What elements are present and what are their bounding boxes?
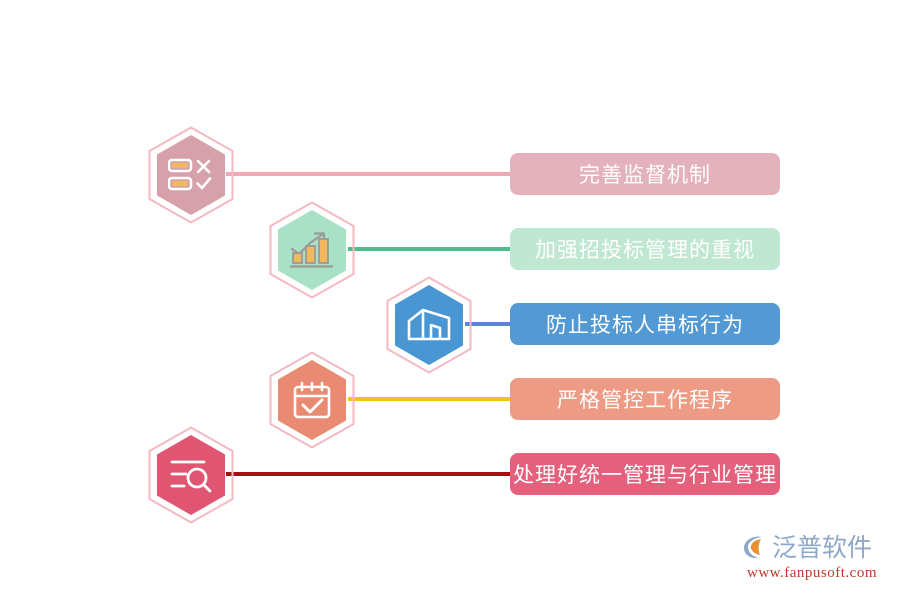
hex-badge-5[interactable] (148, 426, 234, 524)
label-pill-2[interactable]: 加强招投标管理的重视 (510, 228, 780, 270)
hex-badge-2[interactable] (269, 201, 355, 299)
label-text-2: 加强招投标管理的重视 (535, 234, 755, 264)
label-text-3: 防止投标人串标行为 (546, 309, 744, 339)
building-warehouse-icon (386, 276, 472, 374)
watermark-url-text: www.fanpusoft.com (742, 565, 882, 582)
label-pill-4[interactable]: 严格管控工作程序 (510, 378, 780, 420)
label-text-4: 严格管控工作程序 (557, 384, 733, 414)
label-text-1: 完善监督机制 (579, 159, 711, 189)
fanpu-swoosh-logo-icon (742, 534, 768, 560)
infographic-row-3: 防止投标人串标行为 (0, 0, 900, 600)
connector-line-5 (226, 472, 514, 476)
label-pill-3[interactable]: 防止投标人串标行为 (510, 303, 780, 345)
connector-line-2 (348, 247, 514, 251)
hex-badge-1[interactable] (148, 126, 234, 224)
label-text-5: 处理好统一管理与行业管理 (513, 459, 777, 489)
hex-badge-4[interactable] (269, 351, 355, 449)
calendar-check-icon (269, 351, 355, 449)
label-pill-1[interactable]: 完善监督机制 (510, 153, 780, 195)
list-x-check-icon (148, 126, 234, 224)
hex-badge-3[interactable] (386, 276, 472, 374)
connector-line-4 (348, 397, 514, 401)
connector-line-1 (226, 172, 514, 176)
label-pill-5[interactable]: 处理好统一管理与行业管理 (510, 453, 780, 495)
bar-chart-growth-icon (269, 201, 355, 299)
watermark-logo: 泛普软件 www.fanpusoft.com (742, 530, 882, 586)
connector-line-3 (465, 322, 514, 326)
document-search-icon (148, 426, 234, 524)
watermark-brand-text: 泛普软件 (772, 535, 872, 560)
watermark-brand-row: 泛普软件 (742, 530, 882, 564)
infographic-canvas: 完善监督机制 (0, 0, 900, 600)
